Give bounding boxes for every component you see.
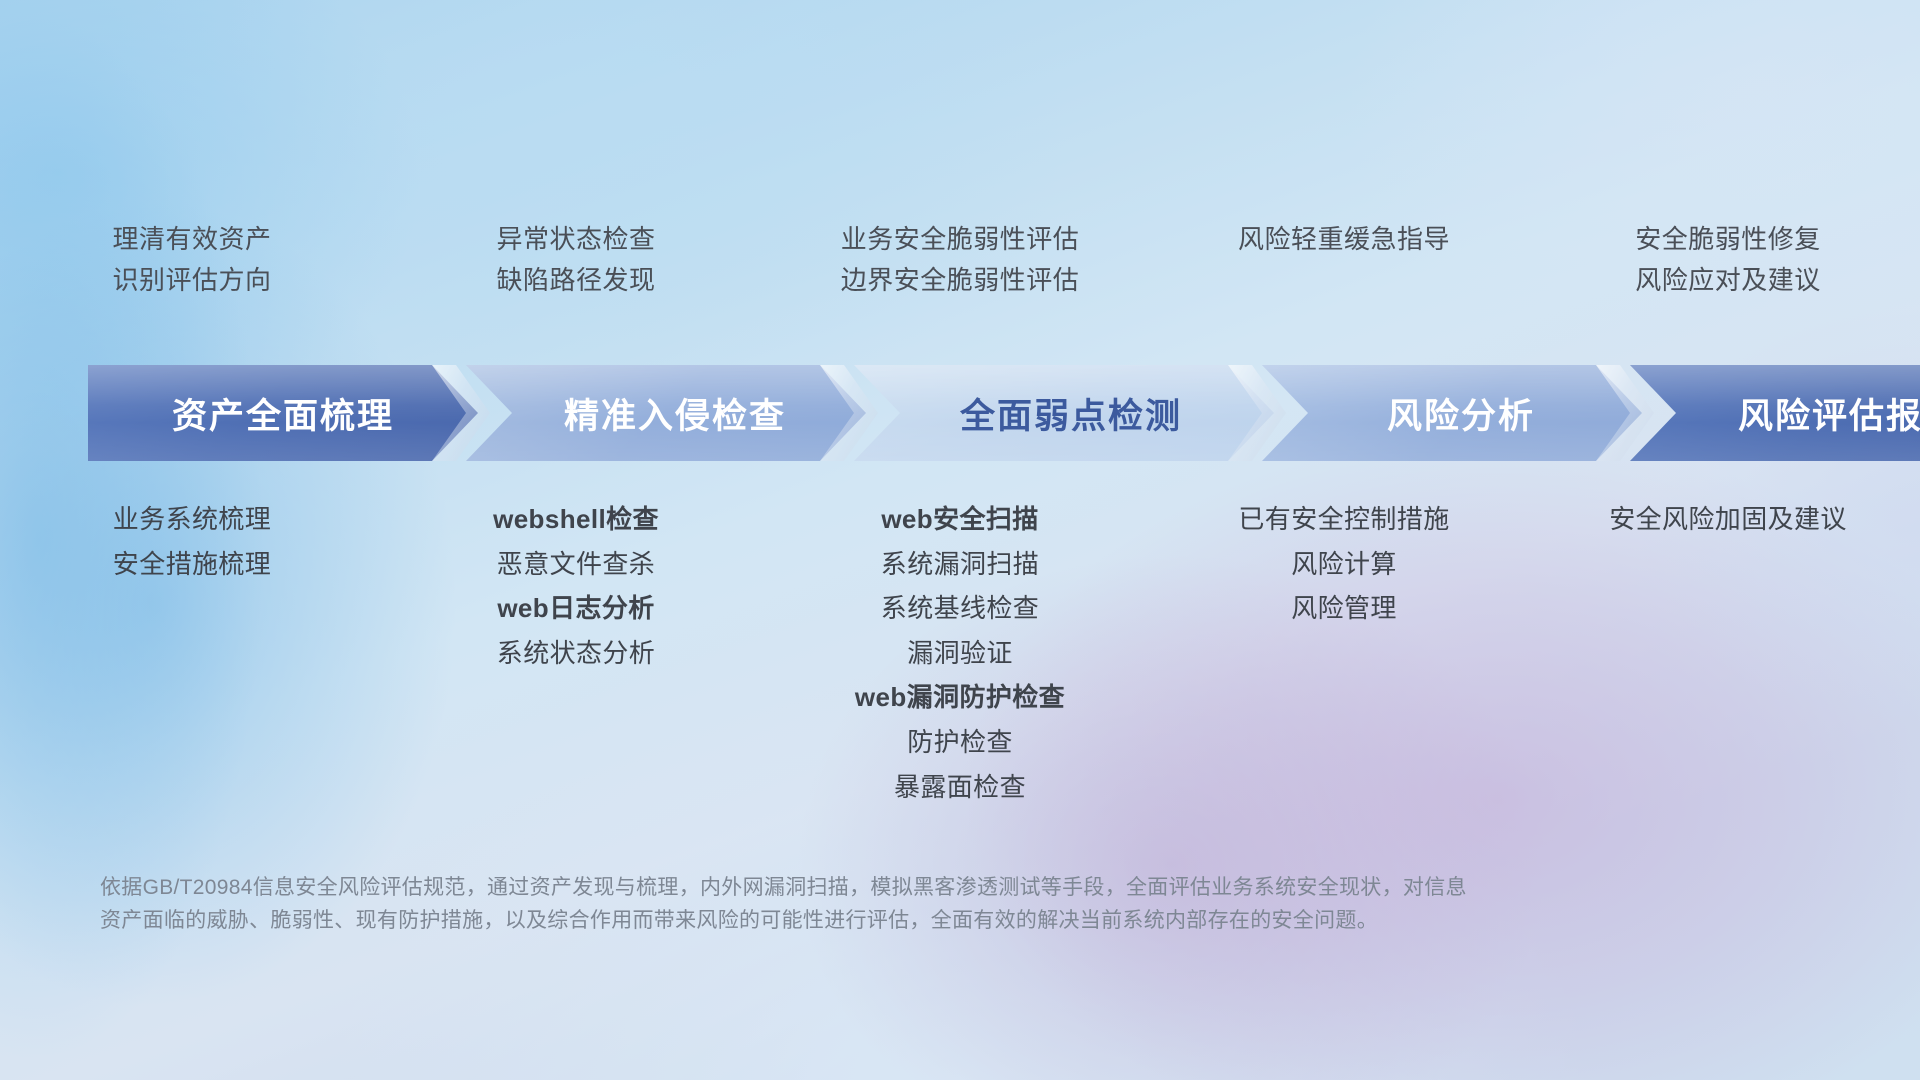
list-item: web日志分析 xyxy=(497,594,654,623)
top-caption: 缺陷路径发现 xyxy=(496,266,655,295)
top-caption: 理清有效资产 xyxy=(112,225,271,254)
list-item: web安全扫描 xyxy=(881,505,1038,534)
list-item: 风险计算 xyxy=(1291,550,1397,579)
stage-label: 风险分析 xyxy=(1387,388,1535,439)
top-caption: 识别评估方向 xyxy=(112,266,271,295)
top-captions-column: 风险轻重缓急指导 xyxy=(1152,225,1536,335)
list-item: 系统漏洞扫描 xyxy=(881,550,1039,579)
list-item: 业务系统梳理 xyxy=(113,505,271,534)
top-captions-row: 理清有效资产 识别评估方向 异常状态检查 缺陷路径发现 业务安全脆弱性评估 边界… xyxy=(0,225,1920,335)
top-captions-column: 理清有效资产 识别评估方向 xyxy=(0,225,384,335)
stage-arrow-asset-inventory[interactable]: 资产全面梳理 xyxy=(88,365,478,461)
top-caption: 风险应对及建议 xyxy=(1635,266,1821,295)
stage-arrow-banner: 资产全面梳理 精准入侵检查 全面弱点检测 风险分析 风险评估报告 xyxy=(88,365,1848,461)
list-item: 防护检查 xyxy=(907,728,1013,757)
list-item: 暴露面检查 xyxy=(894,773,1026,802)
top-captions-column: 安全脆弱性修复 风险应对及建议 xyxy=(1536,225,1920,335)
list-item: 安全风险加固及建议 xyxy=(1609,505,1847,534)
list-item: 风险管理 xyxy=(1291,594,1397,623)
top-caption: 风险轻重缓急指导 xyxy=(1238,225,1450,254)
list-item: web漏洞防护检查 xyxy=(855,683,1065,712)
stage-label: 精准入侵检查 xyxy=(564,388,786,439)
stage-arrow-intrusion-check[interactable]: 精准入侵检查 xyxy=(466,365,866,461)
footer-line: 资产面临的威胁、脆弱性、现有防护措施，以及综合作用而带来风险的可能性进行评估，全… xyxy=(100,905,1720,938)
bottom-items-column: 安全风险加固及建议 xyxy=(1536,505,1920,534)
process-diagram: 理清有效资产 识别评估方向 异常状态检查 缺陷路径发现 业务安全脆弱性评估 边界… xyxy=(0,0,1920,1080)
list-item: 漏洞验证 xyxy=(907,639,1013,668)
top-caption: 安全脆弱性修复 xyxy=(1635,225,1821,254)
stage-label: 资产全面梳理 xyxy=(172,388,394,439)
bottom-items-column: 业务系统梳理 安全措施梳理 xyxy=(0,505,384,578)
top-captions-column: 业务安全脆弱性评估 边界安全脆弱性评估 xyxy=(768,225,1152,335)
stage-label: 风险评估报告 xyxy=(1738,388,1920,439)
stage-label: 全面弱点检测 xyxy=(960,388,1182,439)
stage-arrow-risk-analysis[interactable]: 风险分析 xyxy=(1262,365,1642,461)
stage-arrow-weakness-detection[interactable]: 全面弱点检测 xyxy=(854,365,1274,461)
top-caption: 异常状态检查 xyxy=(496,225,655,254)
footer-line: 依据GB/T20984信息安全风险评估规范，通过资产发现与梳理，内外网漏洞扫描，… xyxy=(100,872,1720,905)
list-item: webshell检查 xyxy=(493,505,659,534)
list-item: 安全措施梳理 xyxy=(113,550,271,579)
bottom-items-column: 已有安全控制措施 风险计算 风险管理 xyxy=(1152,505,1536,623)
footer-description: 依据GB/T20984信息安全风险评估规范，通过资产发现与梳理，内外网漏洞扫描，… xyxy=(100,872,1720,937)
stage-arrow-risk-report[interactable]: 风险评估报告 xyxy=(1630,365,1920,461)
bottom-items-column: webshell检查 恶意文件查杀 web日志分析 系统状态分析 xyxy=(384,505,768,667)
list-item: 系统状态分析 xyxy=(497,639,655,668)
list-item: 恶意文件查杀 xyxy=(497,550,655,579)
top-caption: 业务安全脆弱性评估 xyxy=(841,225,1080,254)
bottom-items-row: 业务系统梳理 安全措施梳理 webshell检查 恶意文件查杀 web日志分析 … xyxy=(0,505,1920,801)
top-captions-column: 异常状态检查 缺陷路径发现 xyxy=(384,225,768,335)
top-caption: 边界安全脆弱性评估 xyxy=(841,266,1080,295)
bottom-items-column: web安全扫描 系统漏洞扫描 系统基线检查 漏洞验证 web漏洞防护检查 防护检… xyxy=(768,505,1152,801)
list-item: 已有安全控制措施 xyxy=(1238,505,1449,534)
list-item: 系统基线检查 xyxy=(881,594,1039,623)
